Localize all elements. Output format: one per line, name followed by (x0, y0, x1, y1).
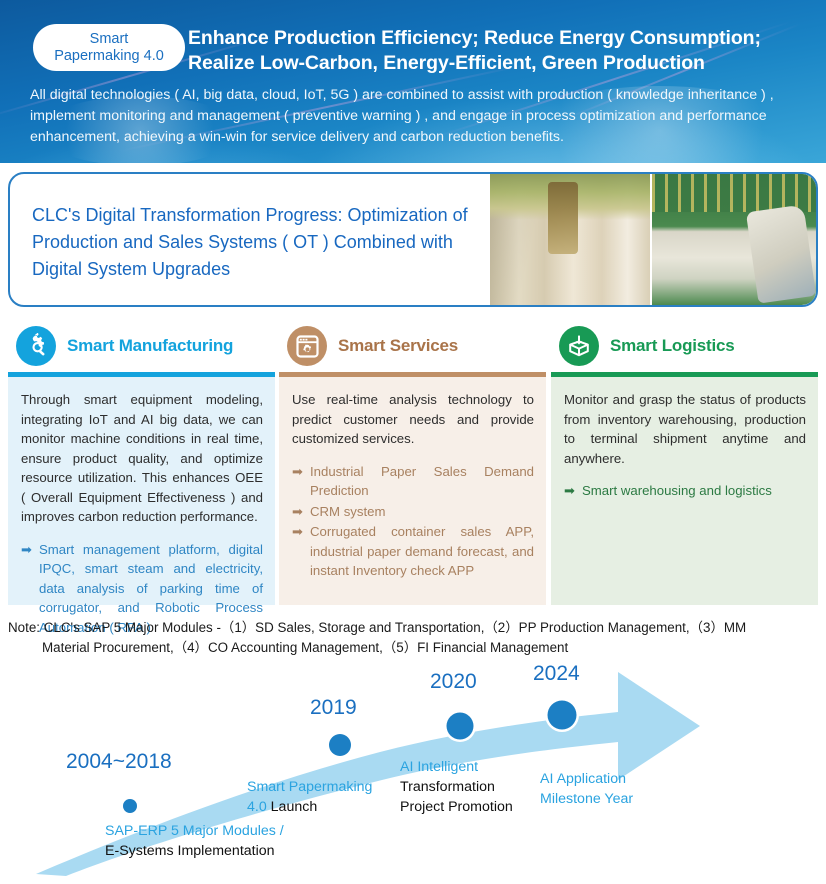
pillar-header: Smart Services (279, 320, 546, 372)
banner-title: Enhance Production Efficiency; Reduce En… (188, 26, 813, 76)
gear-wrench-icon (16, 326, 56, 366)
pillar-header: Smart Manufacturing (8, 320, 275, 372)
paper-rolls-photo (490, 174, 650, 305)
sap-modules-note: Note: CLC's SAP 5 Major Modules -（1）SD S… (8, 618, 820, 658)
milestone-caption: 4.0 Launch (247, 798, 317, 817)
arrow-bullet-icon: ➡ (292, 522, 303, 542)
milestone-caption-dark: Launch (271, 799, 318, 815)
milestone-year: 2020 (430, 672, 477, 691)
pillar-smart-logistics: Smart Logistics Monitor and grasp the st… (551, 320, 818, 605)
card-title: CLC's Digital Transformation Progress: O… (32, 202, 502, 283)
card-photos (490, 174, 816, 305)
banner-title-line-1: Enhance Production Efficiency; Reduce En… (188, 26, 813, 51)
arrow-bullet-icon: ➡ (564, 481, 575, 501)
pillar-paragraph: Through smart equipment modeling, integr… (21, 390, 263, 527)
pillar-smart-manufacturing: Smart Manufacturing Through smart equipm… (8, 320, 275, 605)
milestone-caption: Project Promotion (400, 798, 513, 817)
milestone-year: 2004~2018 (66, 752, 172, 771)
pillar-header: Smart Logistics (551, 320, 818, 372)
bullet-text: Industrial Paper Sales Demand Prediction (310, 464, 534, 499)
pillar-paragraph: Use real-time analysis technology to pre… (292, 390, 534, 449)
open-box-icon (559, 326, 599, 366)
note-line-2: Material Procurement,（4）CO Accounting Ma… (8, 638, 820, 658)
pillar-body: Use real-time analysis technology to pre… (279, 377, 546, 605)
milestone-caption: E-Systems Implementation (105, 842, 275, 861)
note-line-1: Note: CLC's SAP 5 Major Modules -（1）SD S… (8, 618, 820, 638)
robotic-palletizer-photo (652, 174, 816, 305)
list-item: ➡Corrugated container sales APP, industr… (292, 522, 534, 581)
badge-line-2: Papermaking 4.0 (54, 48, 164, 65)
bullet-text: CRM system (310, 504, 385, 519)
arrow-bullet-icon: ➡ (292, 502, 303, 522)
arrow-bullet-icon: ➡ (21, 540, 32, 560)
milestone-caption-accent: 4.0 (247, 799, 271, 815)
milestone-dot (548, 701, 577, 730)
milestone-year: 2024 (533, 664, 580, 683)
list-item: ➡Industrial Paper Sales Demand Predictio… (292, 462, 534, 501)
badge-line-1: Smart (90, 31, 129, 48)
pillar-title: Smart Services (338, 336, 458, 356)
browser-gear-icon (287, 326, 327, 366)
timeline-section: 2004~2018 SAP-ERP 5 Major Modules / E-Sy… (0, 660, 826, 884)
pillar-bullets: ➡Industrial Paper Sales Demand Predictio… (292, 462, 534, 581)
milestone-dot (123, 799, 137, 813)
milestone-caption: AI Application (540, 770, 626, 789)
list-item: ➡Smart warehousing and logistics (564, 481, 806, 501)
pillar-body: Through smart equipment modeling, integr… (8, 377, 275, 605)
milestone-caption: Milestone Year (540, 790, 633, 809)
pillar-title: Smart Logistics (610, 336, 735, 356)
pillar-body: Monitor and grasp the status of products… (551, 377, 818, 605)
arrow-bullet-icon: ➡ (292, 462, 303, 482)
infographic-page: Smart Papermaking 4.0 Enhance Production… (0, 0, 826, 884)
banner-description: All digital technologies ( AI, big data,… (30, 85, 800, 148)
pillar-title: Smart Manufacturing (67, 336, 233, 356)
bullet-text: Corrugated container sales APP, industri… (310, 524, 534, 578)
smart-papermaking-badge: Smart Papermaking 4.0 (33, 24, 185, 71)
milestone-dot (329, 734, 351, 756)
milestone-caption: Smart Papermaking (247, 778, 372, 797)
milestone-caption: Transformation (400, 778, 495, 797)
pillar-smart-services: Smart Services Use real-time analysis te… (279, 320, 546, 605)
header-banner: Smart Papermaking 4.0 Enhance Production… (0, 0, 826, 163)
milestone-year: 2019 (310, 698, 357, 717)
digital-transformation-card: CLC's Digital Transformation Progress: O… (8, 172, 818, 307)
milestone-caption: SAP-ERP 5 Major Modules / (105, 822, 284, 841)
pillar-paragraph: Monitor and grasp the status of products… (564, 390, 806, 468)
pillar-bullets: ➡Smart warehousing and logistics (564, 481, 806, 501)
pillars-section: Smart Manufacturing Through smart equipm… (8, 320, 818, 605)
banner-title-line-2: Realize Low-Carbon, Energy-Efficient, Gr… (188, 51, 813, 76)
milestone-dot (447, 713, 474, 740)
bullet-text: Smart warehousing and logistics (582, 483, 772, 498)
milestone-caption: AI Intelligent (400, 758, 478, 777)
list-item: ➡CRM system (292, 502, 534, 522)
